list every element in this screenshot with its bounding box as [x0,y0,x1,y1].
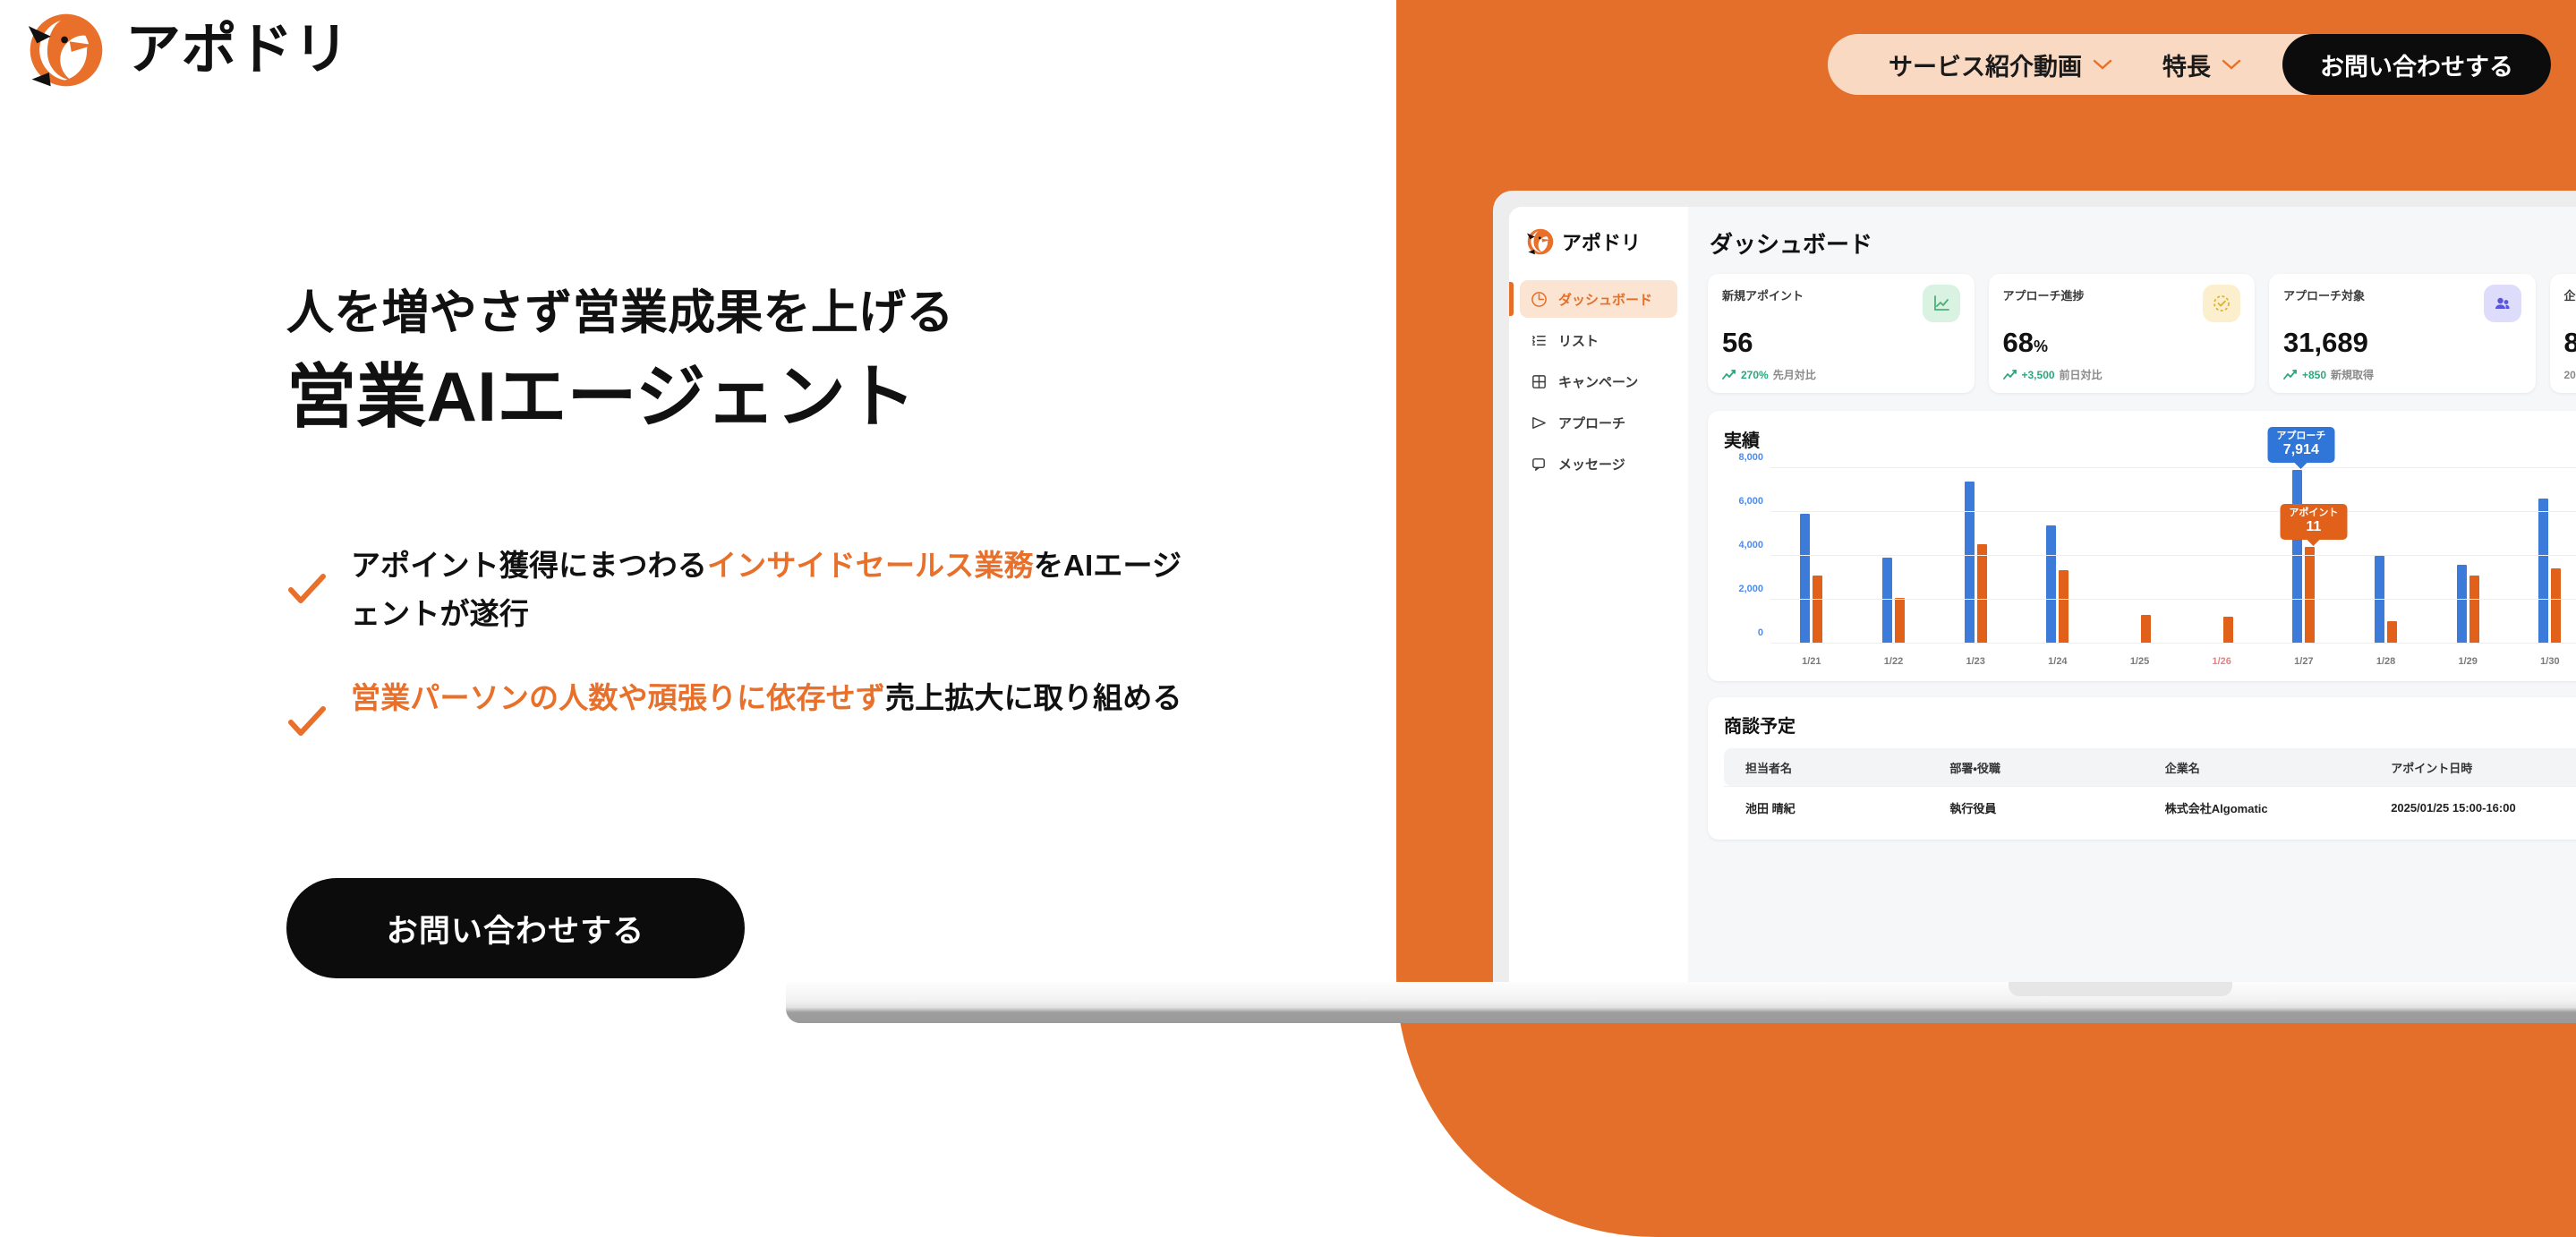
sidebar-item-label: ダッシュボード [1558,290,1652,309]
chart-bar-appointment [2551,568,2561,644]
chart-bar-approach [1882,558,1892,644]
chart-bar-appointment [2223,617,2233,644]
chart-gridline [1770,467,2576,468]
y-axis-tick-left: 4,000 [1724,540,1763,550]
chevron-down-icon [2093,58,2112,71]
cell-company: 株式会社Algomatic [2165,799,2391,816]
site-logo-text: アポドリ [125,22,349,78]
chart-bars [1770,468,2576,644]
kpi-delta: +3,500 [2022,369,2055,381]
trend-up-icon [1722,370,1736,380]
bullet-text: アポイント獲得にまつわるインサイドセールス業務をAIエージェントが遂行 [351,542,1199,638]
nav-item-label: サービス紹介動画 [1889,47,2082,82]
column-header: 担当者名 [1724,759,1949,776]
x-axis-tick: 1/28 [2345,656,2427,667]
y-axis-tick-left: 2,000 [1724,584,1763,594]
kpi-delta-note: 先月対比 [1773,367,1816,382]
chart-bar-approach [2292,470,2302,644]
sidebar-item-list[interactable]: リスト [1520,321,1677,359]
chart-bar-group [1934,468,2017,644]
x-axis-tick: 1/30 [2509,656,2576,667]
cell-datetime: 2025/01/25 15:00-16:00 [2391,801,2576,815]
send-icon [1531,414,1548,431]
check-icon [286,568,328,610]
dashboard-logo: アポドリ [1509,226,1688,257]
chart-gridline [1770,555,2576,556]
x-axis-tick: 1/25 [2099,656,2181,667]
kpi-label: 新規アポイント [1722,286,1804,303]
y-axis-tick-left: 8,000 [1724,452,1763,463]
kpi-delta-note: 新規取得 [2331,367,2374,382]
nav-contact-button[interactable]: お問い合わせする [2282,34,2551,95]
column-header: 企業名 [2165,759,2391,776]
nav-item-label: 特長 [2162,47,2211,82]
chart-bar-group [1853,468,1935,644]
table-title: 商談予定 [1724,712,2576,738]
chart-plot-area [1770,468,2576,644]
chart-tooltip: アプローチ7,914 [2267,427,2334,463]
chart-bar-group [2427,468,2509,644]
chart-bar-group [2180,468,2263,644]
bird-logo-icon [1525,226,1556,257]
kpi-card-company-count: 企業数 8,040 2024/01/16時点 [2550,274,2576,393]
chart-bar-approach [1965,482,1975,644]
hero-text-block: 人を増やさず営業成果を上げる 営業AIエージェント [286,285,1235,439]
chart-title: 実績 [1724,426,1760,452]
laptop-notch [2009,982,2232,996]
hero-subheadline: 人を増やさず営業成果を上げる [286,285,1235,342]
dashboard-sidebar: アポドリ ダッシュボード [1509,207,1688,982]
cell-name: 池田 晴紀 [1724,799,1949,816]
landing-page: アポドリ サービス紹介動画 特長 お問い合わせする 人を増やさず営業成果を上げる… [0,0,2576,1237]
chart-bar-approach [2046,525,2056,644]
column-header: 部署・役職 [1949,759,2164,776]
sidebar-item-label: メッセージ [1558,455,1625,473]
laptop-screen-bezel: アポドリ ダッシュボード [1493,191,2576,982]
sidebar-item-label: キャンペーン [1558,372,1638,391]
kpi-footer: 2024/01/16時点 [2564,367,2576,382]
grid-icon [1531,373,1548,390]
hero-headline: 営業AIエージェント [286,354,1235,439]
chart-bar-group [2345,468,2427,644]
chart-bar-approach [2457,565,2467,644]
kpi-footer: +3,500 前日対比 [2003,367,2241,382]
x-axis-tick: 1/29 [2427,656,2509,667]
bullet-part-highlight: 営業パーソンの人数や頑張りに依存せず [351,681,885,714]
cell-role: 執行役員 [1949,799,2164,816]
chart-gridline [1770,511,2576,512]
y-axis-tick-left: 6,000 [1724,496,1763,507]
chart-bar-appointment [2141,615,2151,644]
x-axis-tick: 1/24 [2017,656,2099,667]
kpi-delta: +850 [2302,369,2326,381]
y-axis-tick-left: 0 [1724,627,1763,638]
chart-gridline [1770,643,2576,644]
chart-bar-approach [2538,499,2548,644]
kpi-card-approach-progress: アプローチ進捗 68% +3,500 前日対比 [1989,274,2256,393]
kpi-footer: +850 新規取得 [2283,367,2521,382]
meeting-schedule-card: 商談予定 担当者名 部署・役職 企業名 アポイント日時 ステータス 池田 晴紀 … [1708,697,2576,840]
chart-bar-appointment [2305,547,2315,644]
kpi-delta: 270% [1741,369,1769,381]
x-axis-tick: 1/21 [1770,656,1853,667]
kpi-card-row: 新規アポイント 56 270% 先月対比 [1708,274,2576,393]
kpi-label: アプローチ進捗 [2003,286,2085,303]
x-axis-tick: 1/23 [1934,656,2017,667]
chart-bar-appointment [1895,598,1905,644]
chart-bar-group [1770,468,1853,644]
performance-bar-chart: 1/211/221/231/241/251/261/271/281/291/30… [1724,457,2576,670]
line-chart-icon [1923,285,1960,322]
check-icon [286,701,328,742]
x-axis-tick: 1/22 [1853,656,1935,667]
site-logo[interactable]: アポドリ [23,7,349,93]
page-title: ダッシュボード [1710,226,2576,260]
chart-gridline [1770,599,2576,600]
x-axis-tick: 1/26 [2180,656,2263,667]
trend-up-icon [2283,370,2298,380]
sidebar-item-approach[interactable]: アプローチ [1520,404,1677,441]
dashboard-logo-text: アポドリ [1562,227,1641,256]
list-item: 営業パーソンの人数や頑張りに依存せず売上拡大に取り組める [286,674,1199,742]
chart-bar-group [2263,468,2345,644]
chart-bar-group [2509,468,2576,644]
bullet-text: 営業パーソンの人数や頑張りに依存せず売上拡大に取り組める [351,674,1182,722]
table-row[interactable]: 池田 晴紀 執行役員 株式会社Algomatic 2025/01/25 15:0… [1724,786,2576,829]
laptop-mockup: アポドリ ダッシュボード [1493,191,2576,996]
kpi-label: 企業数 [2564,286,2576,303]
nav-item-service-video[interactable]: サービス紹介動画 [1864,47,2137,82]
performance-chart-card: 実績 1/21〜2/1 1/211/22 [1708,411,2576,681]
bullet-part: 売上拡大に取り組める [885,681,1182,714]
chart-bar-approach [1800,514,1810,644]
gauge-icon [1531,291,1548,308]
dashboard-screen: アポドリ ダッシュボード [1509,207,2576,982]
kpi-card-approach-target: アプローチ対象 31,689 +850 新規取得 [2269,274,2536,393]
list-icon [1531,332,1548,349]
chart-bar-approach [2375,556,2384,644]
bullet-part: アポイント獲得にまつわる [351,549,707,582]
chart-x-axis-labels: 1/211/221/231/241/251/261/271/281/291/30… [1770,656,2576,667]
top-navigation: サービス紹介動画 特長 お問い合わせする [1828,34,2551,95]
chart-tooltip: アポイント11 [2280,504,2347,540]
table-header-row: 担当者名 部署・役職 企業名 アポイント日時 ステータス [1724,748,2576,786]
kpi-card-new-appointments: 新規アポイント 56 270% 先月対比 [1708,274,1975,393]
dashboard-main: ダッシュボード 新規アポイント 56 [1688,207,2576,982]
chart-bar-group [2099,468,2181,644]
users-icon [2484,285,2521,322]
nav-item-features[interactable]: 特長 [2137,47,2266,82]
hero-contact-label: お問い合わせする [387,906,644,951]
chevron-down-icon [2222,58,2241,71]
kpi-value: 56 [1722,328,1960,356]
chart-bar-appointment [1977,544,1987,644]
kpi-value: 31,689 [2283,328,2521,356]
kpi-delta-note: 前日対比 [2060,367,2103,382]
sidebar-item-label: アプローチ [1558,414,1625,432]
sidebar-item-campaign[interactable]: キャンペーン [1520,363,1677,400]
chart-bar-appointment [2059,570,2068,644]
chart-bar-group [2017,468,2099,644]
sidebar-item-message[interactable]: メッセージ [1520,445,1677,482]
kpi-footer: 270% 先月対比 [1722,367,1960,382]
progress-check-icon [2203,285,2240,322]
message-icon [1531,456,1548,473]
column-header: アポイント日時 [2391,759,2576,776]
sidebar-nav: ダッシュボード リスト [1509,280,1688,482]
nav-contact-label: お問い合わせする [2320,47,2513,82]
list-item: アポイント獲得にまつわるインサイドセールス業務をAIエージェントが遂行 [286,542,1199,638]
hero-bullet-list: アポイント獲得にまつわるインサイドセールス業務をAIエージェントが遂行 営業パー… [286,542,1199,778]
hero-contact-button[interactable]: お問い合わせする [286,878,745,978]
sidebar-item-dashboard[interactable]: ダッシュボード [1520,280,1677,318]
chart-bar-appointment [2387,621,2397,644]
x-axis-tick: 1/27 [2263,656,2345,667]
kpi-value: 68% [2003,328,2241,356]
sidebar-item-label: リスト [1558,331,1599,350]
kpi-value: 8,040 [2564,328,2576,356]
bullet-part-highlight: インサイドセールス業務 [707,549,1034,582]
chart-bar-appointment [2469,576,2479,644]
laptop-base [786,982,2576,1023]
kpi-delta-note: 2024/01/16時点 [2564,367,2576,382]
kpi-label: アプローチ対象 [2283,286,2365,303]
bird-logo-icon [23,7,109,93]
trend-up-icon [2003,370,2017,380]
chart-bar-appointment [1813,576,1822,644]
